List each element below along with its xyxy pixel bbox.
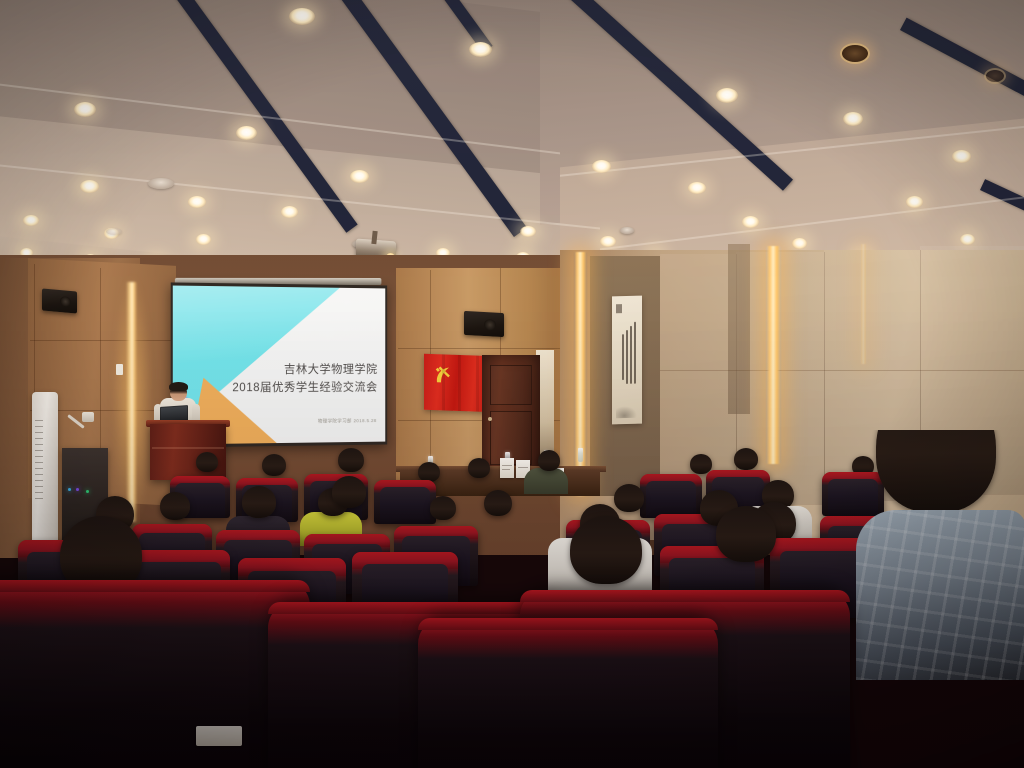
accent-downlight-ring	[984, 68, 1006, 84]
attendee-head	[242, 486, 276, 518]
attendee-head	[538, 450, 560, 471]
downlight	[74, 102, 96, 117]
slide-title: 吉林大学物理学院 2018届优秀学生经验交流会	[232, 362, 377, 398]
scroll-landscape-ink	[616, 406, 637, 419]
attendee-olive-jacket	[524, 468, 568, 494]
attendee-head	[876, 430, 996, 512]
attendee-head	[484, 490, 512, 516]
panel-seam	[660, 370, 1024, 371]
downlight	[281, 206, 298, 218]
seat-number-label	[196, 726, 242, 746]
downlight	[80, 180, 99, 193]
downlight	[592, 160, 611, 173]
attendee-plaid-shirt	[856, 510, 1024, 680]
downlight	[23, 215, 39, 226]
attendee-head	[468, 458, 490, 478]
calligraphy-scroll	[612, 296, 642, 425]
attendee-head	[332, 476, 366, 508]
downlight	[792, 238, 807, 249]
slide-title-line2: 2018届优秀学生经验交流会	[232, 379, 377, 397]
door-panel	[490, 365, 532, 405]
wall-speaker-right	[464, 311, 504, 337]
attendee-head	[430, 496, 456, 520]
downlight	[843, 112, 863, 126]
theater-seat[interactable]	[374, 480, 436, 524]
downlight	[469, 42, 492, 57]
slide-title-line1: 吉林大学物理学院	[232, 362, 377, 380]
right-wall-dark-panel	[728, 244, 750, 414]
downlight	[906, 196, 923, 208]
presenter-hair	[169, 382, 188, 391]
cove-light-strip-right-c	[860, 244, 867, 364]
attendee-head	[262, 454, 286, 476]
downlight	[236, 126, 257, 140]
speaker-cone-icon	[484, 319, 496, 331]
attendee-head	[614, 484, 644, 512]
wall-speaker-left	[42, 288, 77, 313]
slide-subtitle: 物理学院学习部 2018.5.28	[318, 418, 377, 425]
downlight	[520, 226, 536, 237]
downlight	[716, 88, 738, 103]
audience-area	[0, 430, 1024, 768]
attendee-head	[734, 448, 758, 470]
attendee-head	[716, 506, 776, 562]
downlight	[960, 234, 975, 245]
downlight	[742, 216, 759, 228]
smoke-detector	[148, 178, 174, 189]
speaker-cone-icon	[60, 296, 71, 307]
downlight	[600, 236, 616, 247]
downlight	[688, 182, 706, 194]
attendee-head	[160, 492, 190, 520]
auditorium-photo: 吉林大学物理学院 2018届优秀学生经验交流会 物理学院学习部 2018.5.2…	[0, 0, 1024, 768]
downlight	[289, 8, 315, 25]
hammer-and-sickle-icon	[433, 363, 457, 388]
attendee-head	[418, 462, 440, 482]
av-control-box[interactable]	[82, 412, 94, 422]
panel-seam	[398, 348, 586, 349]
theater-seat[interactable]	[640, 474, 702, 518]
panel-seam	[30, 340, 176, 341]
smoke-detector	[106, 228, 122, 235]
scroll-seal-icon	[616, 304, 622, 313]
foreground-seat[interactable]	[0, 580, 310, 768]
downlight	[952, 150, 971, 163]
attendee-head	[196, 452, 218, 472]
smoke-detector	[620, 227, 634, 234]
theater-seat[interactable]	[822, 472, 884, 516]
downlight	[350, 170, 369, 183]
attendee-head	[570, 516, 642, 584]
foreground-seat[interactable]	[418, 618, 718, 768]
accent-downlight-ring	[840, 43, 870, 64]
laptop-screen	[161, 406, 187, 421]
wall-outlet-plate	[116, 364, 123, 375]
downlight	[188, 196, 206, 208]
attendee-head	[338, 448, 364, 472]
door-knob-icon[interactable]	[488, 417, 492, 421]
downlight	[196, 234, 211, 245]
